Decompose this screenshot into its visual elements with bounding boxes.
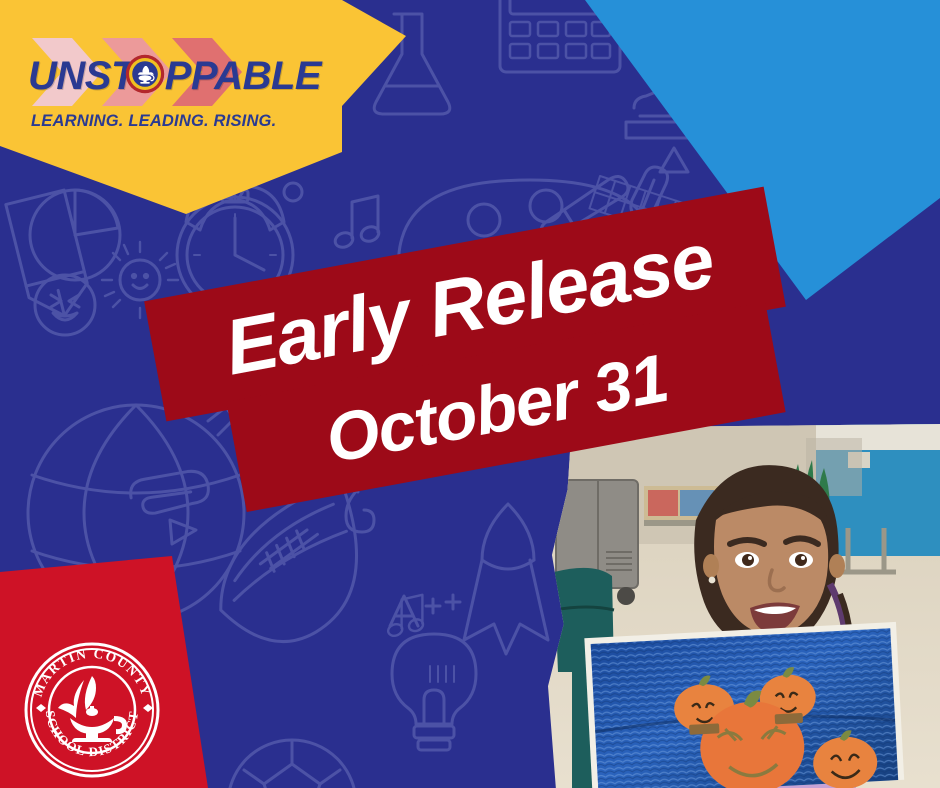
pencil-icon <box>6 190 94 323</box>
lightbulb-icon <box>392 634 476 750</box>
unstoppable-logo: UNSTOPPABLE LEARNING. LEADING. RISING. <box>28 36 278 144</box>
student-photo <box>548 424 940 788</box>
logo-word-part1: UNST <box>28 54 134 98</box>
logo-tagline: LEARNING. LEADING. RISING. <box>31 112 276 131</box>
calculator-icon <box>500 0 620 72</box>
lamp-of-knowledge-icon <box>58 676 127 742</box>
ribbon-icon <box>464 504 548 654</box>
football-icon <box>192 480 390 663</box>
smiley-face-icon <box>800 110 860 170</box>
logo-word-part2: PPABLE <box>165 54 321 98</box>
early-release-poster: UNSTOPPABLE LEARNING. LEADING. RISING. <box>0 0 940 788</box>
globe-icon <box>28 405 244 657</box>
triangle-icon <box>764 124 792 148</box>
flask-icon <box>374 14 450 114</box>
martin-county-school-district-seal: MARTIN COUNTY SCHOOL DISTRICT <box>22 640 162 780</box>
soccer-ball-icon <box>228 740 356 788</box>
triangle-icon <box>842 178 866 202</box>
triangle-icon <box>170 520 196 544</box>
triangle-icon <box>872 210 896 234</box>
district-seal-small-icon <box>125 54 165 94</box>
music-note-icon <box>333 196 381 250</box>
